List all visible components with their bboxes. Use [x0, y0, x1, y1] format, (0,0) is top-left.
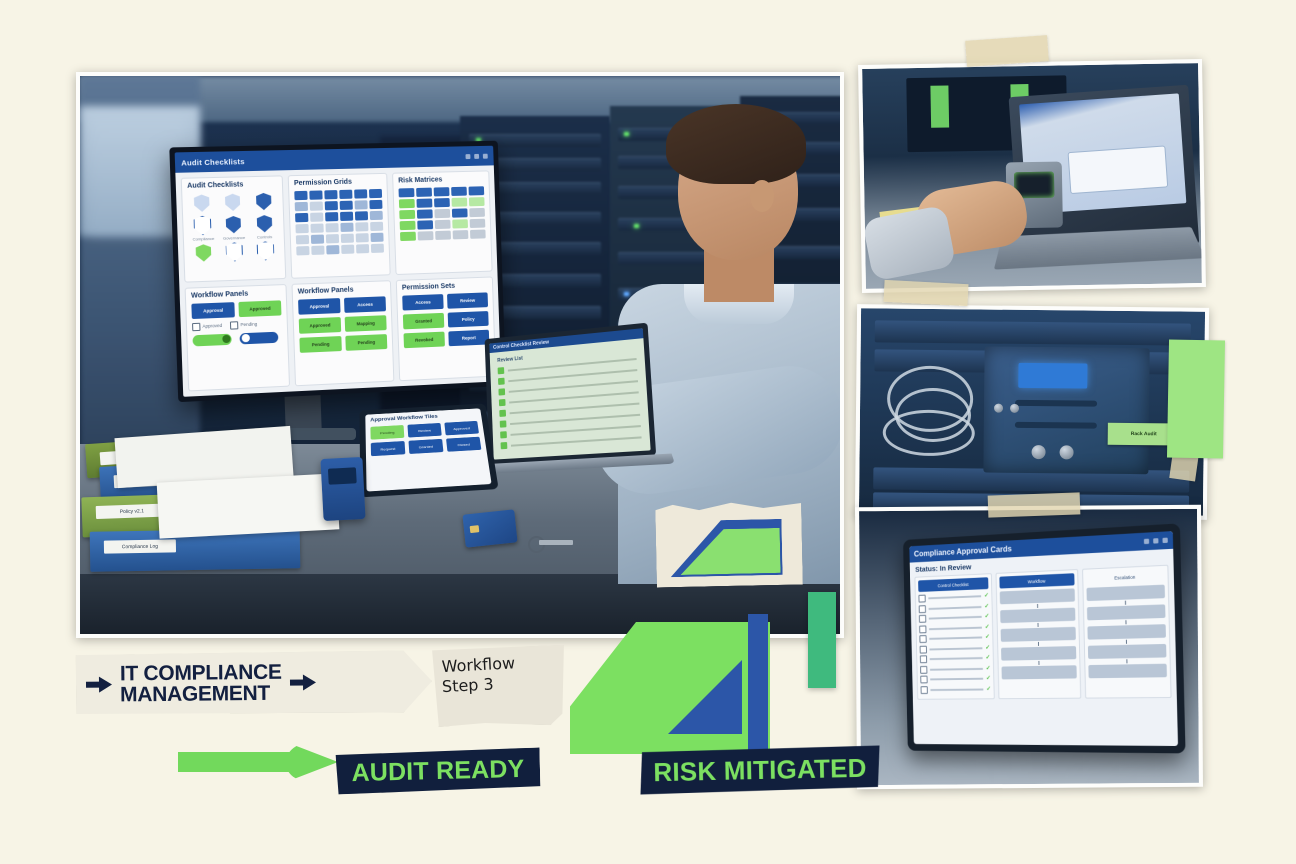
- checklist-row[interactable]: ✓: [919, 613, 990, 623]
- checklist-row[interactable]: ✓: [921, 685, 992, 694]
- toggle-on[interactable]: [192, 333, 231, 346]
- flow-node[interactable]: [1001, 646, 1076, 661]
- workflow-button-3[interactable]: Approved: [299, 317, 341, 334]
- sticker-text: Rack Audit: [1131, 431, 1157, 437]
- shield-caption-2: Governance: [220, 235, 249, 241]
- panel-workflow-panels-left[interactable]: Workflow Panels Approval Approved Approv…: [185, 284, 290, 392]
- checklist-row[interactable]: ✓: [920, 664, 991, 673]
- headline-arrow-label: IT COMPLIANCE MANAGEMENT: [76, 650, 433, 716]
- tape-strip-middle: [883, 280, 968, 306]
- shield-icon-7[interactable]: [189, 243, 218, 263]
- button-label: Granted: [415, 318, 432, 324]
- tablet-photo-inner: Compliance Approval Cards Status: In Rev…: [859, 509, 1199, 785]
- button-label: Mapping: [356, 320, 374, 326]
- key-blade: [539, 540, 573, 545]
- dashboard-grid: Audit Checklists Compliance: [175, 165, 501, 396]
- laptop-checklist: Review List: [490, 338, 651, 459]
- flow-node[interactable]: [1001, 627, 1076, 642]
- laptop-lid: Control Checklist Review Review List: [485, 323, 657, 465]
- desk-tablet: Approval Workflow Tiles Pending Review A…: [359, 404, 498, 498]
- button-label: Approval: [309, 303, 329, 309]
- column-header-text: Control Checklist: [938, 582, 969, 588]
- checkbox-label: Approved: [202, 323, 222, 329]
- panel-title: Permission Sets: [402, 281, 488, 291]
- workflow-button-approved[interactable]: Approved: [238, 300, 281, 317]
- shield-icon-grid: [187, 192, 278, 236]
- tablet-screen: Approval Workflow Tiles Pending Review A…: [365, 408, 491, 491]
- document-stack-lower: [157, 473, 340, 538]
- permission-button-4[interactable]: Policy: [448, 311, 489, 327]
- network-cables: [880, 357, 998, 472]
- tile-label: Review: [418, 428, 431, 433]
- tile-label: Approved: [453, 426, 470, 431]
- panel-permission-grids[interactable]: Permission Grids: [288, 173, 391, 278]
- workflow-buttons: Approval Approved: [191, 300, 281, 319]
- ear: [750, 180, 774, 212]
- shield-icon-6[interactable]: [250, 214, 278, 234]
- flow-node[interactable]: [1088, 664, 1167, 679]
- shield-icon-1[interactable]: [187, 193, 216, 213]
- shield-caption-3: Controls: [250, 234, 279, 240]
- flow-node[interactable]: [1002, 665, 1077, 679]
- binder-label-text: Policy v2.1: [120, 508, 144, 515]
- shield-icon-2[interactable]: [219, 192, 248, 212]
- flow-node[interactable]: [1088, 644, 1167, 659]
- headline-line-2: MANAGEMENT: [120, 682, 270, 707]
- desktop-monitor: Audit Checklists Audit Checklists: [169, 141, 506, 402]
- biometric-login-photo: [858, 59, 1206, 293]
- button-label: Report: [462, 335, 476, 341]
- access-badge-card: [462, 509, 517, 547]
- shield-icon-3[interactable]: [249, 192, 277, 212]
- tile-label: Closed: [457, 442, 470, 447]
- fingerprint-scanner: [320, 457, 365, 521]
- panel-workflow-panels-right[interactable]: Workflow Panels Approval Access Approved…: [291, 280, 394, 387]
- column-escalation[interactable]: Escalation: [1082, 565, 1172, 699]
- workflow-tile-2[interactable]: Review: [407, 423, 441, 438]
- workflow-tile-1[interactable]: Pending: [370, 425, 404, 440]
- column-header: Escalation: [1086, 569, 1165, 585]
- button-label: Access: [415, 299, 431, 305]
- poster-canvas: Audit Checklists Audit Checklists: [0, 0, 1296, 864]
- shield-icon-grid-2: [189, 241, 279, 263]
- geometric-mark-small: [670, 519, 783, 577]
- shield-caption-1: Compliance: [189, 236, 218, 242]
- checklist-row[interactable]: ✓: [920, 675, 991, 684]
- workflow-tile-3[interactable]: Approved: [444, 421, 479, 436]
- tile-label: Granted: [418, 444, 433, 449]
- flow-node[interactable]: [1086, 585, 1165, 601]
- teal-accent-bar: [808, 592, 836, 688]
- tile-label: Request: [380, 446, 395, 451]
- tape-strip-lower: [988, 492, 1081, 517]
- column-workflow[interactable]: Workflow: [996, 569, 1081, 699]
- permission-button-2[interactable]: Review: [447, 292, 488, 308]
- workflow-checkboxes: Approved Pending: [192, 319, 282, 331]
- workflow-button-5[interactable]: Pending: [299, 336, 341, 353]
- checkbox-label: Pending: [240, 321, 257, 327]
- permission-button-3[interactable]: Granted: [403, 312, 444, 329]
- workflow-button-6[interactable]: Pending: [345, 334, 387, 351]
- tablet-scene: Compliance Approval Cards Status: In Rev…: [859, 509, 1199, 785]
- column-header: Control Checklist: [918, 577, 989, 592]
- dashboard-title: Audit Checklists: [181, 157, 245, 168]
- button-label: Approved: [249, 305, 270, 311]
- button-label: Pending: [357, 339, 375, 345]
- workflow-button-2[interactable]: Access: [344, 296, 386, 313]
- arrow-shaft: [178, 752, 290, 772]
- binder-label: Compliance Log: [104, 539, 176, 553]
- button-label: Review: [460, 297, 475, 303]
- permission-button-6[interactable]: Report: [448, 329, 489, 346]
- panel-permission-sets[interactable]: Permission Sets Access Review Granted Po…: [396, 276, 496, 381]
- hair: [666, 104, 806, 184]
- button-label: Approved: [309, 322, 330, 328]
- checkbox-approved[interactable]: Approved: [192, 321, 222, 330]
- panel-risk-matrices[interactable]: Risk Matrices: [392, 170, 493, 274]
- approval-tablet: Compliance Approval Cards Status: In Rev…: [903, 523, 1186, 753]
- key-ring: [528, 536, 574, 548]
- green-tape-strip: [1167, 340, 1225, 459]
- badge-audit-ready: AUDIT READY: [336, 748, 541, 795]
- workflow-toggles: [192, 331, 282, 346]
- button-label: Access: [357, 301, 373, 307]
- checklist-row[interactable]: ✓: [919, 623, 990, 633]
- approval-columns: Control Checklist ✓ ✓ ✓ ✓ ✓ ✓ ✓ ✓ ✓ ✓: [910, 562, 1177, 704]
- tablet-approval-photo: Compliance Approval Cards Status: In Rev…: [855, 505, 1203, 789]
- checklist-row[interactable]: ✓: [920, 654, 991, 663]
- badge-audit-text: AUDIT READY: [351, 754, 525, 787]
- button-label: Revoked: [415, 337, 433, 343]
- tablet-body: Approval Workflow Tiles Pending Review A…: [359, 404, 498, 498]
- panel-title: Risk Matrices: [398, 175, 484, 184]
- rack-scene: Rack Audit: [859, 308, 1205, 516]
- biometric-photo-inner: [862, 63, 1202, 289]
- button-label: Pending: [312, 341, 330, 347]
- server-rack-photo: Rack Audit: [855, 304, 1209, 520]
- button-label: Approval: [203, 307, 223, 313]
- workflow-tile-4[interactable]: Request: [371, 441, 406, 456]
- permission-button-5[interactable]: Revoked: [403, 331, 444, 348]
- rack-lcd-display: [1018, 363, 1087, 388]
- workflow-sticky-note: Workflow Step 3: [429, 645, 566, 727]
- panel-title: Audit Checklists: [187, 181, 277, 190]
- green-arrow-icon: [178, 742, 338, 782]
- flow-node[interactable]: [1087, 624, 1166, 640]
- panel-title: Permission Grids: [294, 178, 382, 187]
- arrow-head: [286, 742, 338, 782]
- checklist-row[interactable]: ✓: [919, 602, 990, 612]
- monitor-bezel: Audit Checklists Audit Checklists: [175, 146, 502, 397]
- badge-risk-mitigated: RISK MITIGATED: [640, 745, 881, 794]
- panel-title: Workflow Panels: [298, 285, 386, 295]
- window-controls[interactable]: [1144, 538, 1168, 544]
- headline-text: IT COMPLIANCE MANAGEMENT: [120, 661, 282, 706]
- workflow-tiles: Pending Review Approved Request Granted …: [370, 421, 481, 456]
- window-controls[interactable]: [465, 153, 487, 158]
- risk-matrix[interactable]: [398, 186, 485, 241]
- checklist-row[interactable]: ✓: [919, 633, 990, 643]
- rack-photo-inner: Rack Audit: [859, 308, 1205, 516]
- flow-node[interactable]: [1087, 604, 1166, 620]
- badge-risk-text: RISK MITIGATED: [653, 752, 867, 787]
- checkbox-pending[interactable]: Pending: [230, 320, 257, 329]
- panel-title: Workflow Panels: [191, 289, 281, 299]
- laptop: Control Checklist Review Review List: [485, 323, 657, 465]
- shield-icon-9[interactable]: [251, 241, 279, 261]
- shield-icon-5[interactable]: [219, 215, 248, 235]
- column-control-checklist[interactable]: Control Checklist ✓ ✓ ✓ ✓ ✓ ✓ ✓ ✓ ✓ ✓: [914, 573, 995, 700]
- arrow-right-icon-right: [290, 674, 316, 690]
- tablet-window-title: Compliance Approval Cards: [914, 544, 1012, 558]
- column-header-text: Escalation: [1114, 574, 1135, 580]
- arrow-right-icon-left: [86, 676, 112, 692]
- permission-button-grid: Access Review Granted Policy Revoked Rep…: [402, 292, 489, 348]
- tablet-screen: Compliance Approval Cards Status: In Rev…: [909, 531, 1178, 746]
- binder-label-text: Compliance Log: [122, 543, 158, 550]
- shield-icon-8[interactable]: [220, 242, 249, 262]
- workflow-tile-6[interactable]: Closed: [446, 437, 481, 452]
- workflow-button-approval[interactable]: Approval: [191, 302, 235, 319]
- tile-label: Pending: [380, 430, 395, 435]
- permission-button-1[interactable]: Access: [402, 294, 443, 310]
- geometric-mark-large: [570, 622, 770, 754]
- sleeve: [862, 205, 956, 282]
- button-label: Policy: [462, 316, 475, 321]
- workflow-button-1[interactable]: Approval: [298, 298, 340, 315]
- flow-node[interactable]: [1000, 608, 1075, 623]
- workflow-button-4[interactable]: Mapping: [345, 315, 387, 332]
- panel-audit-checklists[interactable]: Audit Checklists Compliance: [181, 175, 287, 282]
- biometric-scene: [862, 63, 1202, 289]
- column-header-text: Workflow: [1028, 578, 1046, 584]
- paper-scrap-graphic: [655, 500, 803, 587]
- large-blue-bar: [748, 614, 768, 752]
- flow-node[interactable]: [1000, 588, 1075, 604]
- toggle-off[interactable]: [240, 331, 279, 344]
- column-header: Workflow: [1000, 573, 1075, 588]
- laptop-screen: Control Checklist Review Review List: [489, 328, 650, 459]
- permission-grid[interactable]: [294, 189, 384, 256]
- checklist-row[interactable]: ✓: [920, 644, 991, 653]
- workflow-tile-5[interactable]: Granted: [408, 439, 443, 454]
- shield-icon-4[interactable]: [188, 216, 217, 236]
- workflow-button-grid: Approval Access Approved Mapping Pending…: [298, 296, 387, 353]
- checklist-row[interactable]: ✓: [918, 592, 989, 603]
